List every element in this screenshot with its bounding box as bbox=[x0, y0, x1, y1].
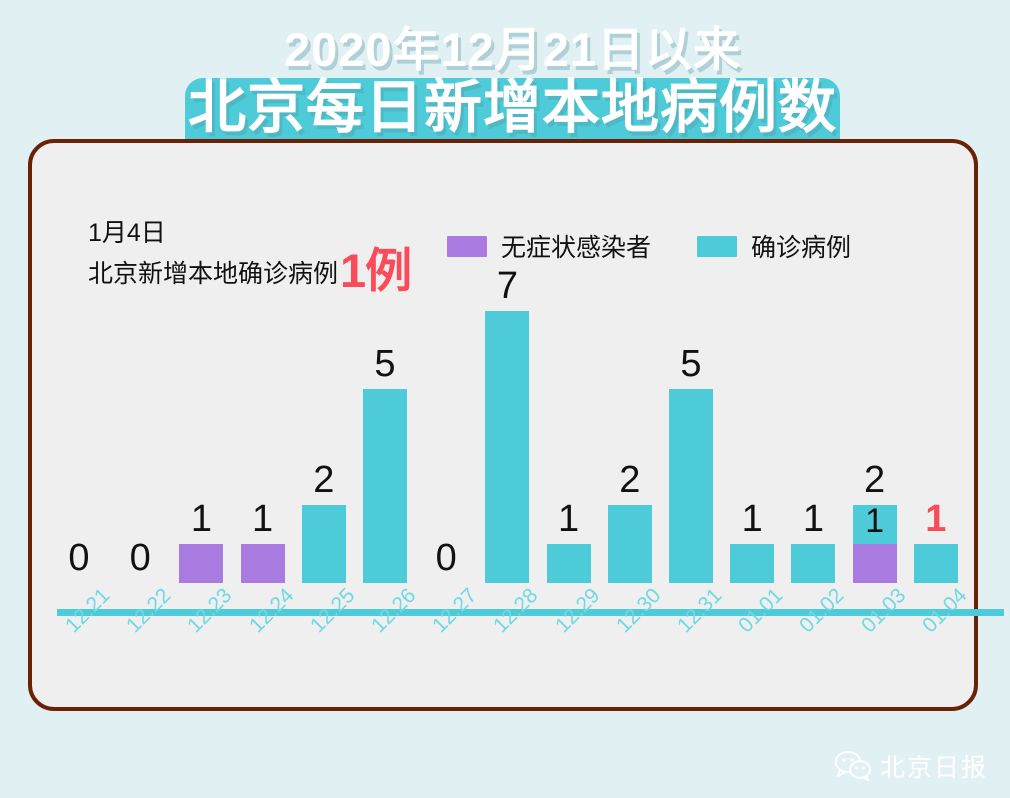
bar-segment-confirmed[interactable] bbox=[608, 505, 652, 583]
footer-label: 北京日报 bbox=[880, 748, 988, 784]
bar-value-label: 0 bbox=[45, 539, 113, 577]
bar-chart-plot: 0011250712511211 12.2112.2212.2312.2412.… bbox=[28, 139, 978, 711]
bar-stack[interactable] bbox=[730, 544, 774, 583]
bar-segment-confirmed[interactable] bbox=[730, 544, 774, 583]
bar-value-label: 2 bbox=[596, 461, 664, 499]
bar-value-label: 5 bbox=[657, 345, 725, 383]
bar-value-label: 1 bbox=[229, 500, 297, 538]
bar-value-label: 0 bbox=[412, 539, 480, 577]
bar-stack[interactable] bbox=[363, 389, 407, 583]
wechat-icon bbox=[835, 751, 871, 781]
bar-stack[interactable] bbox=[179, 544, 223, 583]
bar-segment-asymptomatic[interactable] bbox=[179, 544, 223, 583]
bar-value-label: 0 bbox=[106, 539, 174, 577]
bar-value-label: 5 bbox=[351, 345, 419, 383]
bar-inner-value-label: 1 bbox=[853, 504, 897, 538]
bar-value-label: 1 bbox=[535, 500, 603, 538]
bar-stack[interactable] bbox=[914, 544, 958, 583]
bar-segment-confirmed[interactable] bbox=[302, 505, 346, 583]
footer-branding: 北京日报 bbox=[835, 748, 988, 784]
bar-value-label: 1 bbox=[718, 500, 786, 538]
bar-value-label: 7 bbox=[473, 267, 541, 305]
bar-segment-asymptomatic[interactable] bbox=[853, 544, 897, 583]
bar-segment-confirmed[interactable] bbox=[485, 311, 529, 583]
bar-stack[interactable] bbox=[547, 544, 591, 583]
bar-segment-confirmed[interactable] bbox=[547, 544, 591, 583]
title-line-1: 2020年12月21日以来 bbox=[185, 26, 840, 74]
bar-segment-confirmed[interactable] bbox=[791, 544, 835, 583]
bar-stack[interactable] bbox=[302, 505, 346, 583]
bar-stack[interactable] bbox=[485, 311, 529, 583]
bar-value-label: 2 bbox=[290, 461, 358, 499]
bar-value-label: 1 bbox=[902, 500, 970, 538]
bar-segment-confirmed[interactable] bbox=[914, 544, 958, 583]
bar-segment-confirmed[interactable] bbox=[669, 389, 713, 583]
bar-value-label: 2 bbox=[841, 461, 909, 499]
bar-value-label: 1 bbox=[779, 500, 847, 538]
bar-stack[interactable] bbox=[241, 544, 285, 583]
bar-stack[interactable] bbox=[669, 389, 713, 583]
bar-segment-confirmed[interactable] bbox=[363, 389, 407, 583]
bar-value-label: 1 bbox=[167, 500, 235, 538]
bar-stack[interactable] bbox=[791, 544, 835, 583]
bar-stack[interactable] bbox=[608, 505, 652, 583]
bar-segment-asymptomatic[interactable] bbox=[241, 544, 285, 583]
